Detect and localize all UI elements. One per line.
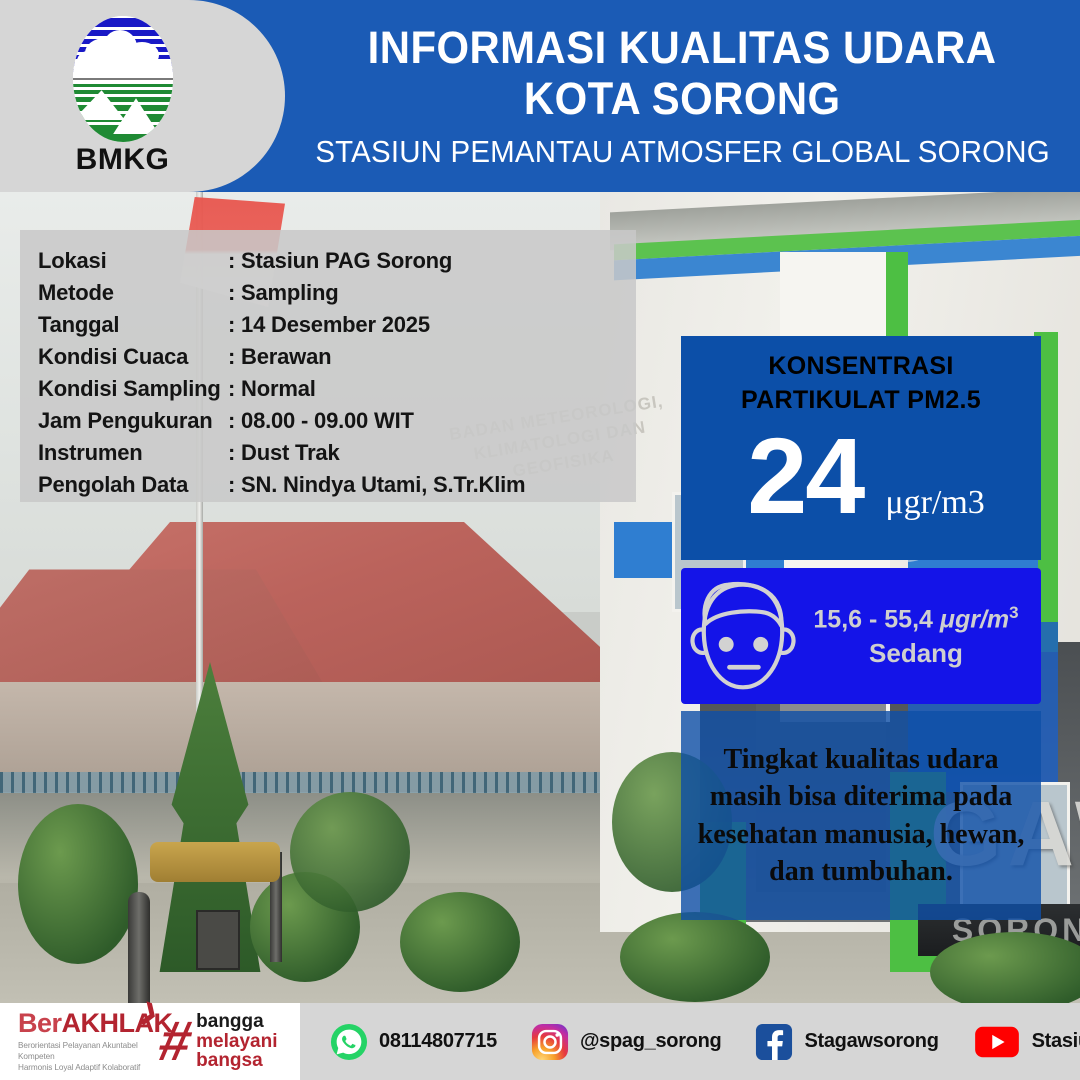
category-text: 15,6 - 55,4 μgr/m3 Sedang bbox=[799, 603, 1041, 668]
info-label: Metode bbox=[38, 280, 228, 306]
shrub bbox=[620, 912, 770, 1002]
instagram-icon[interactable] bbox=[531, 1023, 569, 1061]
info-value: : SN. Nindya Utami, S.Tr.Klim bbox=[228, 472, 525, 498]
shrub bbox=[290, 792, 410, 912]
info-value: : 14 Desember 2025 bbox=[228, 312, 430, 338]
info-value: : 08.00 - 09.00 WIT bbox=[228, 408, 414, 434]
concentration-title-line1: KONSENTRASI bbox=[681, 350, 1041, 384]
info-label: Kondisi Cuaca bbox=[38, 344, 228, 370]
footer-bar: BerAKHLAK❯ Berorientasi Pelayanan Akunta… bbox=[0, 1003, 1080, 1080]
info-row: Pengolah Data : SN. Nindya Utami, S.Tr.K… bbox=[38, 472, 636, 504]
info-row: Tanggal : 14 Desember 2025 bbox=[38, 312, 636, 344]
info-label: Tanggal bbox=[38, 312, 228, 338]
berakhlak-subtitle-line2: Harmonis Loyal Adaptif Kolaboratif bbox=[18, 1062, 146, 1073]
info-value: : Berawan bbox=[228, 344, 331, 370]
page-subtitle: STASIUN PEMANTAU ATMOSFER GLOBAL SORONG bbox=[315, 134, 1050, 170]
lantern bbox=[196, 910, 240, 970]
info-label: Pengolah Data bbox=[38, 472, 228, 498]
bangga-line3: bangsa bbox=[196, 1051, 277, 1070]
air-quality-category-box: 15,6 - 55,4 μgr/m3 Sedang bbox=[681, 568, 1041, 704]
info-row: Kondisi Sampling : Normal bbox=[38, 376, 636, 408]
info-row: Lokasi : Stasiun PAG Sorong bbox=[38, 248, 636, 280]
whatsapp-label: 08114807715 bbox=[379, 1030, 497, 1053]
berakhlak-ber: Ber bbox=[18, 1008, 62, 1038]
health-description-panel: Tingkat kualitas udara masih bisa diteri… bbox=[681, 711, 1041, 920]
header-banner: BMKG INFORMASI KUALITAS UDARA KOTA SORON… bbox=[0, 0, 1080, 192]
shrub bbox=[400, 892, 520, 992]
info-label: Kondisi Sampling bbox=[38, 376, 228, 402]
berakhlak-logo: BerAKHLAK❯ Berorientasi Pelayanan Akunta… bbox=[18, 1010, 146, 1073]
category-range: 15,6 - 55,4 μgr/m3 bbox=[799, 603, 1033, 634]
info-row: Instrumen : Dust Trak bbox=[38, 440, 636, 472]
garden-lamp-post bbox=[128, 892, 150, 1003]
category-level: Sedang bbox=[799, 638, 1033, 669]
info-value: : Normal bbox=[228, 376, 316, 402]
info-value: : Dust Trak bbox=[228, 440, 340, 466]
neutral-face-icon bbox=[687, 577, 799, 695]
youtube-label: Stasiun PAG Sorong bbox=[1032, 1030, 1080, 1053]
bmkg-logo-land bbox=[73, 80, 173, 142]
bangga-line1: bangga bbox=[196, 1012, 277, 1031]
info-label: Instrumen bbox=[38, 440, 228, 466]
info-row: Jam Pengukuran : 08.00 - 09.00 WIT bbox=[38, 408, 636, 440]
concentration-title: KONSENTRASI PARTIKULAT PM2.5 bbox=[681, 336, 1041, 418]
info-row: Metode : Sampling bbox=[38, 280, 636, 312]
bangga-lines: bangga melayani bangsa bbox=[196, 1012, 277, 1070]
bmkg-logo-text: BMKG bbox=[55, 143, 190, 177]
info-value: : Stasiun PAG Sorong bbox=[228, 248, 452, 274]
pm25-concentration-panel: KONSENTRASI PARTIKULAT PM2.5 24 μgr/m3 bbox=[681, 336, 1041, 560]
bmkg-cloud-base bbox=[73, 60, 173, 80]
air-quality-infographic: BMKG STASIUN GAW SORONG BADAN METEOROLOG… bbox=[0, 0, 1080, 1080]
page-title-line2: KOTA SORONG bbox=[524, 73, 841, 124]
health-description-text: Tingkat kualitas udara masih bisa diteri… bbox=[681, 741, 1041, 890]
concentration-title-line2: PARTIKULAT PM2.5 bbox=[681, 384, 1041, 418]
planter-ledge bbox=[150, 842, 280, 882]
concentration-value-row: 24 μgr/m3 bbox=[681, 426, 1041, 525]
bmkg-logo-sky bbox=[73, 16, 173, 79]
facebook-icon[interactable] bbox=[755, 1023, 793, 1061]
facebook-contact[interactable]: Stagawsorong bbox=[755, 1023, 938, 1061]
youtube-icon[interactable] bbox=[973, 1023, 1021, 1061]
instagram-label: @spag_sorong bbox=[580, 1030, 721, 1053]
footer-logo-area: BerAKHLAK❯ Berorientasi Pelayanan Akunta… bbox=[0, 1003, 300, 1080]
header-titles: INFORMASI KUALITAS UDARA KOTA SORONG STA… bbox=[285, 0, 1080, 192]
bmkg-logo-circle bbox=[73, 16, 173, 142]
pm25-unit: μgr/m3 bbox=[885, 484, 984, 522]
bangga-line2: melayani bbox=[196, 1032, 277, 1051]
berakhlak-subtitle-line1: Berorientasi Pelayanan Akuntabel Kompete… bbox=[18, 1040, 146, 1062]
berakhlak-subtitle: Berorientasi Pelayanan Akuntabel Kompete… bbox=[18, 1040, 146, 1073]
whatsapp-icon[interactable] bbox=[330, 1023, 368, 1061]
whatsapp-contact[interactable]: 08114807715 bbox=[330, 1023, 497, 1061]
category-range-exponent: 3 bbox=[1009, 603, 1018, 622]
bmkg-logo: BMKG bbox=[55, 16, 190, 191]
measurement-info-panel: Lokasi : Stasiun PAG Sorong Metode : Sam… bbox=[20, 230, 636, 502]
category-range-unit: μgr/m bbox=[940, 606, 1009, 634]
pm25-value: 24 bbox=[747, 426, 863, 525]
info-value: : Sampling bbox=[228, 280, 338, 306]
social-links: 08114807715 bbox=[300, 1023, 1080, 1061]
shrub bbox=[18, 804, 138, 964]
info-row: Kondisi Cuaca : Berawan bbox=[38, 344, 636, 376]
logo-panel: BMKG bbox=[0, 0, 285, 192]
instagram-contact[interactable]: @spag_sorong bbox=[531, 1023, 721, 1061]
berakhlak-wordmark: BerAKHLAK❯ bbox=[18, 1010, 146, 1037]
info-label: Lokasi bbox=[38, 248, 228, 274]
info-label: Jam Pengukuran bbox=[38, 408, 228, 434]
bangga-melayani-bangsa-logo: # bangga melayani bangsa bbox=[160, 1012, 277, 1070]
youtube-contact[interactable]: Stasiun PAG Sorong bbox=[973, 1023, 1080, 1061]
facebook-label: Stagawsorong bbox=[804, 1030, 938, 1053]
page-title-line1: INFORMASI KUALITAS UDARA bbox=[368, 22, 997, 73]
category-range-value: 15,6 - 55,4 bbox=[813, 606, 939, 634]
